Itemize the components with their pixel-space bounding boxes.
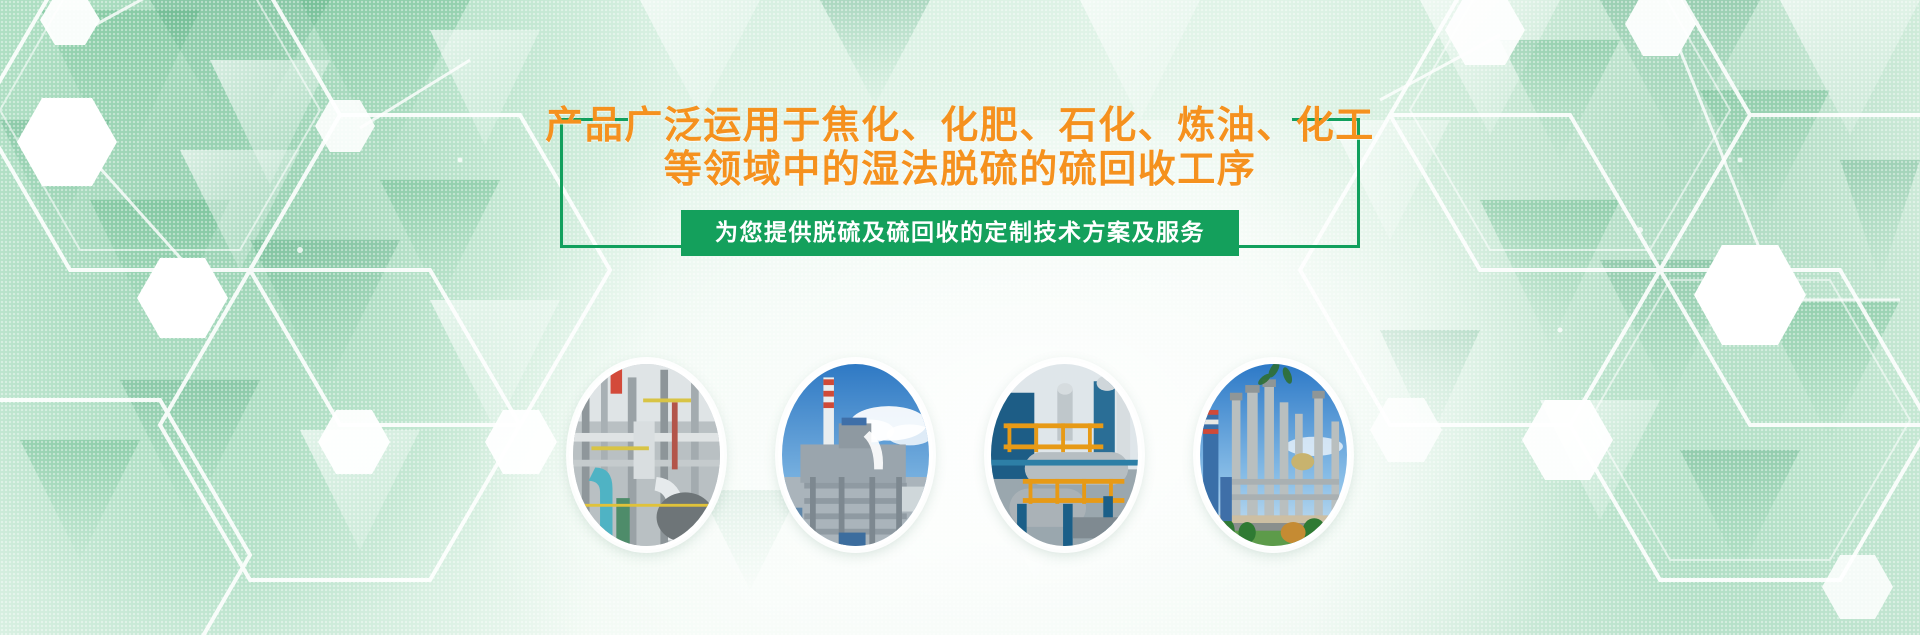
photo-clip bbox=[991, 364, 1138, 546]
photo-chimney-stack-plant bbox=[778, 360, 933, 550]
photo-clip bbox=[782, 364, 929, 546]
photo-refinery-distillation-columns bbox=[1196, 360, 1351, 550]
headline-line-1: 产品广泛运用于焦化、化肥、石化、炼油、化工 bbox=[0, 104, 1920, 148]
photo-clip bbox=[573, 364, 720, 546]
headline-line-2: 等领域中的湿法脱硫的硫回收工序 bbox=[0, 148, 1920, 192]
banner-photo-row bbox=[0, 360, 1920, 550]
banner-headline: 产品广泛运用于焦化、化肥、石化、炼油、化工 等领域中的湿法脱硫的硫回收工序 bbox=[0, 104, 1920, 192]
banner-subtitle-wrap: 为您提供脱硫及硫回收的定制技术方案及服务 bbox=[0, 210, 1920, 256]
photo-clip bbox=[1200, 364, 1347, 546]
promo-banner: 产品广泛运用于焦化、化肥、石化、炼油、化工 等领域中的湿法脱硫的硫回收工序 为您… bbox=[0, 0, 1920, 635]
banner-subtitle-bar: 为您提供脱硫及硫回收的定制技术方案及服务 bbox=[681, 210, 1239, 256]
banner-text-block: 产品广泛运用于焦化、化肥、石化、炼油、化工 等领域中的湿法脱硫的硫回收工序 为您… bbox=[0, 104, 1920, 294]
photo-desulfurization-piping-plant bbox=[569, 360, 724, 550]
photo-pressure-vessel-platform bbox=[987, 360, 1142, 550]
